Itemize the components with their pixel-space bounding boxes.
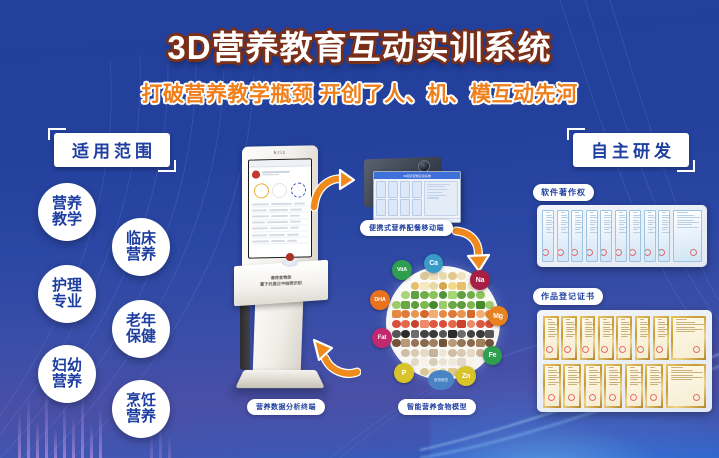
kiosk-screen-table xyxy=(249,200,311,245)
kiosk-tray-shelf: 请将食物放 置于托盘正中拍照识别 xyxy=(234,260,328,307)
certificate-thumbnail[interactable] xyxy=(543,364,561,408)
food-model-dot xyxy=(411,349,420,357)
certificate-thumbnail[interactable] xyxy=(557,210,569,262)
apple-icon xyxy=(252,170,260,178)
food-model-dot xyxy=(392,330,401,338)
food-model-dot xyxy=(420,320,429,328)
metric-ring-protein: ·· xyxy=(272,183,287,198)
food-model-dot xyxy=(420,310,429,318)
nutrient-badge-ca[interactable]: Ca xyxy=(424,254,443,273)
certificate-thumbnail[interactable] xyxy=(598,316,614,360)
food-model-dot xyxy=(411,301,420,309)
kiosk-screen-metrics: ·· ·· ·· xyxy=(249,180,311,201)
food-model-dot xyxy=(448,301,457,309)
certificate-thumbnail[interactable] xyxy=(563,364,581,408)
food-model-dot xyxy=(467,320,476,328)
certificate-thumbnail[interactable] xyxy=(653,316,669,360)
food-model-dot xyxy=(439,310,448,318)
scope-label-line1: 护理 xyxy=(52,278,82,294)
food-model-dot xyxy=(467,330,476,338)
food-model-dot xyxy=(467,291,476,299)
food-model-dot xyxy=(429,272,438,280)
kiosk-side-panel xyxy=(240,299,250,370)
food-model-dot xyxy=(485,330,494,338)
monitor-caption: 便携式营养配餐移动端 xyxy=(360,220,453,236)
nutrient-badge-na[interactable]: Na xyxy=(470,270,490,290)
food-model-dot xyxy=(467,349,476,357)
work-registration-label: 作品登记证书 xyxy=(533,288,603,305)
food-model-dot xyxy=(411,330,420,338)
food-model-dot xyxy=(448,282,457,290)
scope-item-elderly-health[interactable]: 老年 保健 xyxy=(112,300,170,358)
scope-label-line2: 专业 xyxy=(52,294,82,310)
food-model-wheel-illustration[interactable]: Ca Na Mg Fe Zn P Fat DHA VitA 食物模型 xyxy=(378,258,508,388)
poster-header: 3D营养教育互动实训系统 打破营养教学瓶颈 开创了人、机、模互动先河 xyxy=(0,0,719,118)
scope-item-nursing-major[interactable]: 护理 专业 xyxy=(38,265,96,323)
food-model-dot xyxy=(420,272,429,280)
food-model-dot xyxy=(401,339,410,347)
certificate-thumbnail[interactable] xyxy=(571,210,583,262)
scope-item-culinary-nutrition[interactable]: 烹饪 营养 xyxy=(112,380,170,438)
left-panel-heading: 适用范围 xyxy=(54,133,170,167)
food-model-dot xyxy=(401,301,410,309)
food-model-dot xyxy=(420,282,429,290)
certificate-thumbnail[interactable] xyxy=(625,364,643,408)
nutrient-badge-zn[interactable]: Zn xyxy=(456,366,476,386)
metric-ring-calories: ·· xyxy=(254,183,269,198)
food-model-dot xyxy=(411,358,420,366)
certificate-thumbnail[interactable] xyxy=(616,316,632,360)
food-model-dot xyxy=(448,358,457,366)
food-model-dot xyxy=(448,330,457,338)
scope-label-line2: 教学 xyxy=(52,212,82,228)
wheel-center-label: 食物模型 xyxy=(428,370,454,390)
scope-label-line1: 营养 xyxy=(52,196,82,212)
scope-label-line2: 营养 xyxy=(52,374,82,390)
monitor-screen[interactable]: 3D营养配餐互动系统 xyxy=(373,171,461,223)
certificate-thumbnail[interactable] xyxy=(584,364,602,408)
food-model-dot xyxy=(457,310,466,318)
food-model-dot xyxy=(420,368,429,376)
kiosk-head: kriz ·· ·· ·· xyxy=(242,145,318,269)
scope-label-line1: 妇幼 xyxy=(52,358,82,374)
food-model-dot xyxy=(448,349,457,357)
monitor-screen-titlebar: 3D营养配餐互动系统 xyxy=(374,172,460,179)
food-model-dot xyxy=(392,339,401,347)
food-model-dot xyxy=(439,349,448,357)
food-model-dot xyxy=(429,349,438,357)
certificate-thumbnail[interactable] xyxy=(658,210,670,262)
food-model-dot xyxy=(392,301,401,309)
food-model-dot xyxy=(429,301,438,309)
scope-label-line1: 烹饪 xyxy=(126,393,156,409)
monitor-side-list xyxy=(424,181,458,216)
food-model-dot xyxy=(457,291,466,299)
food-model-dot xyxy=(429,330,438,338)
food-model-dot xyxy=(429,282,438,290)
food-model-dot xyxy=(411,310,420,318)
scope-label-line2: 营养 xyxy=(126,409,156,425)
certificate-thumbnail[interactable] xyxy=(600,210,612,262)
monitor-tile-grid xyxy=(376,181,422,216)
food-model-dot xyxy=(401,320,410,328)
nutrient-badge-vita[interactable]: VitA xyxy=(392,260,412,280)
food-model-dot xyxy=(457,349,466,357)
food-model-dot xyxy=(467,301,476,309)
food-model-dot xyxy=(411,291,420,299)
certificate-thumbnail[interactable] xyxy=(666,364,706,408)
scope-item-maternal-child-nutrition[interactable]: 妇幼 营养 xyxy=(38,345,96,403)
food-model-dot xyxy=(476,301,485,309)
food-model-dot xyxy=(448,291,457,299)
certificate-thumbnail[interactable] xyxy=(629,210,641,262)
food-model-dot xyxy=(420,358,429,366)
food-model-dot xyxy=(420,330,429,338)
scope-label-line2: 营养 xyxy=(126,247,156,263)
food-model-dot xyxy=(448,339,457,347)
food-model-dot xyxy=(401,291,410,299)
food-model-dot xyxy=(429,291,438,299)
certificate-thumbnail[interactable] xyxy=(671,316,706,360)
certificate-thumbnail[interactable] xyxy=(586,210,598,262)
food-model-dot xyxy=(457,339,466,347)
food-model-dot xyxy=(429,320,438,328)
certificate-thumbnail[interactable] xyxy=(580,316,596,360)
food-model-dot xyxy=(401,349,410,357)
nutrient-badge-dha[interactable]: DHA xyxy=(370,290,390,310)
kiosk-brand-label: kriz xyxy=(242,149,318,157)
food-model-dot xyxy=(476,330,485,338)
food-model-dot xyxy=(411,339,420,347)
food-model-dot xyxy=(411,282,420,290)
food-model-dot xyxy=(439,272,448,280)
food-model-dot xyxy=(457,272,466,280)
kiosk-screen-food-row xyxy=(249,166,311,181)
right-panel-heading: 自主研发 xyxy=(573,133,689,167)
tray-with-apple-icon xyxy=(282,258,298,267)
nutrient-badge-fat[interactable]: Fat xyxy=(372,328,392,348)
food-model-dot xyxy=(411,320,420,328)
software-copyright-certificates[interactable] xyxy=(537,205,707,267)
certificate-thumbnail[interactable] xyxy=(644,210,656,262)
kiosk-screen[interactable]: ·· ·· ·· xyxy=(248,158,312,258)
page-title: 3D营养教育互动实训系统 xyxy=(0,21,719,69)
food-model-dot xyxy=(457,320,466,328)
certificate-thumbnail[interactable] xyxy=(543,316,559,360)
food-model-dot xyxy=(439,339,448,347)
nutrient-badge-fe[interactable]: Fe xyxy=(483,346,502,365)
food-model-dot xyxy=(448,310,457,318)
arrow-left-curved-icon xyxy=(305,336,361,380)
food-model-dot xyxy=(401,330,410,338)
certificate-thumbnail[interactable] xyxy=(645,364,663,408)
scope-label-line1: 临床 xyxy=(126,231,156,247)
food-model-dot xyxy=(439,358,448,366)
scope-label-line1: 老年 xyxy=(126,313,156,329)
food-model-dot xyxy=(439,291,448,299)
certificate-thumbnail[interactable] xyxy=(673,210,702,262)
metric-ring-score: ·· xyxy=(291,182,306,197)
food-model-dot xyxy=(476,320,485,328)
food-model-dot xyxy=(467,339,476,347)
scope-item-nutrition-teaching[interactable]: 营养 教学 xyxy=(38,183,96,241)
food-model-dot xyxy=(439,301,448,309)
certificate-thumbnail[interactable] xyxy=(542,210,554,262)
food-model-dot xyxy=(439,330,448,338)
page-subtitle: 打破营养教学瓶颈 开创了人、机、模互动先河 xyxy=(0,78,719,108)
food-model-dot xyxy=(476,310,485,318)
poster-canvas: 3D营养教育互动实训系统 打破营养教学瓶颈 开创了人、机、模互动先河 适用范围 … xyxy=(0,0,719,458)
food-model-dot xyxy=(420,301,429,309)
food-model-dot xyxy=(392,320,401,328)
certificate-thumbnail[interactable] xyxy=(561,316,577,360)
food-model-dot xyxy=(448,320,457,328)
nutrient-badge-mg[interactable]: Mg xyxy=(488,306,508,326)
food-model-dot xyxy=(429,358,438,366)
scope-item-clinical-nutrition[interactable]: 临床 营养 xyxy=(112,218,170,276)
food-model-dot xyxy=(429,339,438,347)
portable-device-illustration[interactable]: 3D营养配餐互动系统 xyxy=(360,158,472,220)
software-copyright-label: 软件著作权 xyxy=(533,184,594,201)
food-model-dot xyxy=(392,310,401,318)
food-model-dot xyxy=(429,310,438,318)
nutrient-badge-p[interactable]: P xyxy=(394,363,414,383)
food-model-dot xyxy=(439,282,448,290)
arrow-right-curved-icon xyxy=(310,167,356,213)
food-model-dot xyxy=(448,272,457,280)
work-registration-certificates[interactable] xyxy=(537,310,712,412)
food-model-dot xyxy=(457,301,466,309)
food-model-dot xyxy=(476,291,485,299)
certificate-thumbnail[interactable] xyxy=(604,364,622,408)
food-model-dot xyxy=(457,282,466,290)
food-model-dot xyxy=(420,349,429,357)
scope-label-line2: 保健 xyxy=(126,329,156,345)
kiosk-caption: 营养数据分析终端 xyxy=(247,399,325,415)
food-model-dot xyxy=(467,358,476,366)
food-model-dot xyxy=(401,310,410,318)
certificate-thumbnail[interactable] xyxy=(615,210,627,262)
food-model-dot xyxy=(457,330,466,338)
food-model-dot xyxy=(476,339,485,347)
food-model-dot xyxy=(420,339,429,347)
wheel-caption: 智能营养食物模型 xyxy=(398,399,476,415)
kiosk-body xyxy=(253,298,304,374)
monitor-screen-title: 3D营养配餐互动系统 xyxy=(403,174,431,178)
food-model-dot xyxy=(420,291,429,299)
food-model-dot xyxy=(439,320,448,328)
certificate-thumbnail[interactable] xyxy=(635,316,651,360)
food-model-dot xyxy=(467,310,476,318)
